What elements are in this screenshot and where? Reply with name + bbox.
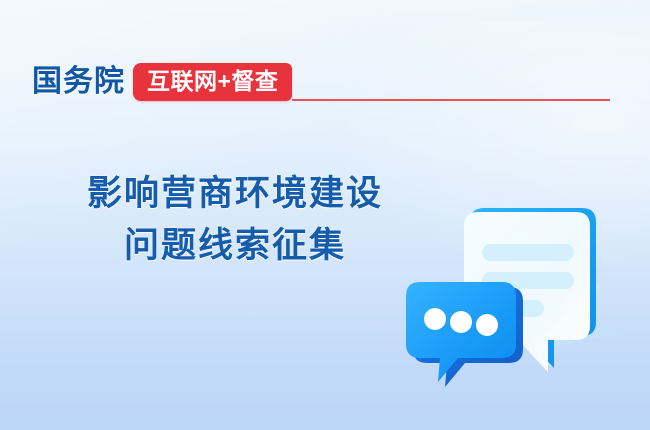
organization-name: 国务院 — [32, 67, 125, 97]
header: 国务院 互联网+督查 — [32, 60, 292, 104]
campaign-badge-label: 互联网+督查 — [147, 70, 278, 93]
chat-bubbles-svg — [398, 196, 650, 402]
chat-bubbles-illustration — [398, 196, 650, 402]
front-bubble — [406, 282, 523, 387]
header-divider-rule — [292, 99, 610, 101]
banner-root: 国务院 互联网+督查 影响营商环境建设 问题线索征集 — [0, 0, 650, 430]
campaign-badge: 互联网+督查 — [133, 63, 292, 101]
